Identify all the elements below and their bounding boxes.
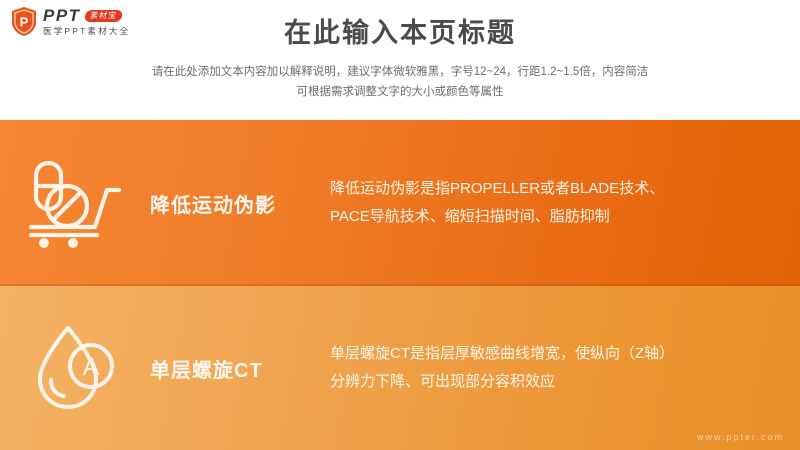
subtitle-line-1: 请在此处添加文本内容加以解释说明，建议字体微软雅黑，字号12~24，行距1.2~…: [0, 62, 800, 82]
svg-text:P: P: [20, 15, 29, 30]
brand-logo[interactable]: P PPT 素材宝 医学PPT素材大全: [10, 6, 130, 37]
subtitle-line-2: 可根据需求调整文字的大小或颜色等属性: [0, 82, 800, 102]
band-1-body-line-1: 降低运动伪影是指PROPELLER或者BLADE技术、: [330, 175, 780, 204]
content-band-1[interactable]: 降低运动伪影 降低运动伪影是指PROPELLER或者BLADE技术、 PACE导…: [0, 120, 800, 286]
band-1-heading: 降低运动伪影: [150, 189, 330, 218]
band-1-body-line-2: PACE导航技术、缩短扫描时间、脂肪抑制: [330, 203, 780, 232]
band-1-body: 降低运动伪影是指PROPELLER或者BLADE技术、 PACE导航技术、缩短扫…: [330, 175, 800, 232]
slide-canvas: 在此输入本页标题 请在此处添加文本内容加以解释说明，建议字体微软雅黑，字号12~…: [0, 0, 800, 450]
content-band-2[interactable]: A 单层螺旋CT 单层螺旋CT是指层厚敏感曲线增宽，使纵向（Z轴） 分辨力下降、…: [0, 286, 800, 450]
band-2-body-line-1: 单层螺旋CT是指层厚敏感曲线增宽，使纵向（Z轴）: [330, 340, 780, 369]
shield-p-icon: P: [10, 6, 38, 37]
logo-top-row: PPT 素材宝: [43, 7, 130, 24]
droplet-a-icon: A: [0, 322, 150, 414]
logo-tagline: 医学PPT素材大全: [43, 27, 130, 36]
band-2-body-line-2: 分辨力下降、可出现部分容积效应: [330, 368, 780, 397]
page-subtitle: 请在此处添加文本内容加以解释说明，建议字体微软雅黑，字号12~24，行距1.2~…: [0, 62, 800, 102]
medicine-cart-icon: [0, 157, 150, 249]
logo-brand-text: PPT: [43, 7, 81, 24]
band-2-heading: 单层螺旋CT: [150, 354, 330, 383]
svg-text:A: A: [83, 353, 100, 381]
footer-watermark: www.ppter.com: [697, 432, 784, 442]
logo-badge: 素材宝: [84, 10, 123, 22]
logo-text-block: PPT 素材宝 医学PPT素材大全: [43, 7, 130, 36]
band-2-body: 单层螺旋CT是指层厚敏感曲线增宽，使纵向（Z轴） 分辨力下降、可出现部分容积效应: [330, 340, 800, 397]
